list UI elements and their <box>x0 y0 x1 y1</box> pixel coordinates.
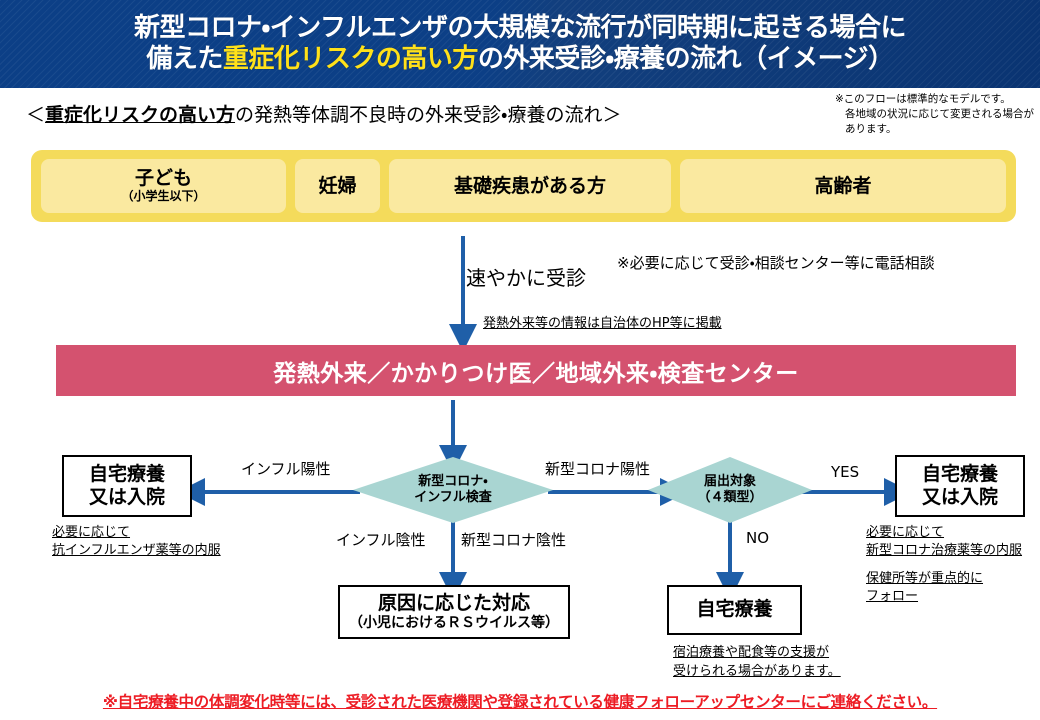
decision-notification-line2: （４類型） <box>697 490 762 506</box>
outcome-home-care: 自宅療養 <box>667 585 802 635</box>
footer-warning-text: ※自宅療養中の体調変化時等には、受診された医療機関や登録されている健康フォローア… <box>103 693 937 711</box>
outcome-center-line1: 原因に応じた対応 <box>378 592 530 615</box>
decision-test-line2: インフル検査 <box>414 490 492 506</box>
outcome-cause-based-response: 原因に応じた対応 （小児におけるＲＳウイルス等） <box>338 585 570 639</box>
outcome-right-note-1: 必要に応じて <box>866 521 944 540</box>
label-phone-consult: ※必要に応じて受診・相談センター等に電話相談 <box>617 252 935 273</box>
outcome-left-note-2: 抗インフルエンザ薬等の内服 <box>52 539 221 558</box>
outcome-home-care-note-1: 宿泊療養や配食等の支援が <box>673 641 829 660</box>
label-prompt-visit: 速やかに受診 <box>466 262 586 291</box>
outcome-left-line1: 自宅療養 <box>89 463 165 486</box>
outcome-left-note-1: 必要に応じて <box>52 521 130 540</box>
label-corona-positive: 新型コロナ陽性 <box>545 458 650 479</box>
flowchart-page: 新型コロナ・インフルエンザの大規模な流行が同時期に起きる場合に 備えた重症化リス… <box>0 0 1040 720</box>
outcome-home-care-note-2: 受けられる場合があります。 <box>673 660 841 679</box>
outcome-right-line1: 自宅療養 <box>922 463 998 486</box>
outcome-right-home-or-hospital: 自宅療養 又は入院 <box>895 455 1025 517</box>
outcome-center-line2: （小児におけるＲＳウイルス等） <box>349 615 559 633</box>
decision-notification-line1: 届出対象 <box>697 474 762 490</box>
label-influenza-positive: インフル陽性 <box>241 458 331 479</box>
decision-covid-influenza-test: 新型コロナ・ インフル検査 <box>353 457 553 523</box>
decision-test-label: 新型コロナ・ インフル検査 <box>414 474 492 507</box>
outcome-right-line2: 又は入院 <box>922 486 998 509</box>
label-no: NO <box>746 529 769 547</box>
label-hp-info: 発熱外来等の情報は自治体のHP等に掲載 <box>483 312 722 331</box>
outcome-right-note-4: フォロー <box>866 585 918 604</box>
decision-notification-label: 届出対象 （４類型） <box>697 474 762 507</box>
outcome-right-note-3: 保健所等が重点的に <box>866 567 983 586</box>
label-corona-negative: 新型コロナ陰性 <box>461 529 566 550</box>
label-influenza-negative: インフル陰性 <box>336 529 426 550</box>
footer-warning: ※自宅療養中の体調変化時等には、受診された医療機関や登録されている健康フォローア… <box>0 690 1040 712</box>
outcome-left-line2: 又は入院 <box>89 486 165 509</box>
outcome-center-right-line1: 自宅療養 <box>696 598 772 621</box>
label-yes: YES <box>831 463 859 481</box>
decision-notification-target: 届出対象 （４類型） <box>648 457 812 523</box>
clinic-banner: 発熱外来／かかりつけ医／地域外来・検査センター <box>56 345 1016 396</box>
decision-test-line1: 新型コロナ・ <box>414 474 492 490</box>
outcome-right-note-2: 新型コロナ治療薬等の内服 <box>866 539 1022 558</box>
outcome-left-home-or-hospital: 自宅療養 又は入院 <box>62 455 192 517</box>
clinic-banner-label: 発熱外来／かかりつけ医／地域外来・検査センター <box>273 354 799 388</box>
